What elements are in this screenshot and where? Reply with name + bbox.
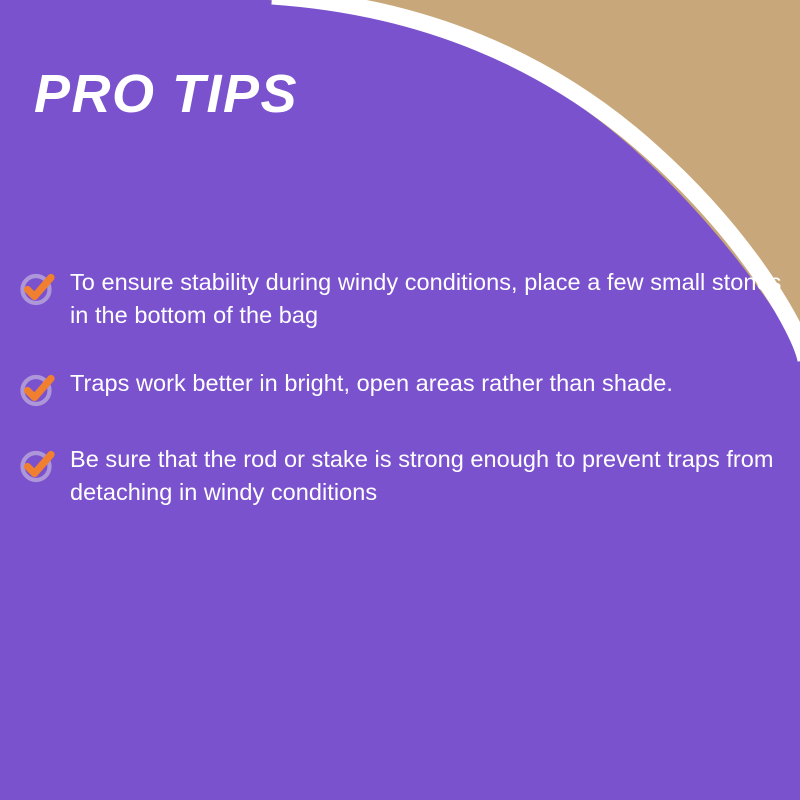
tips-list: To ensure stability during windy conditi… (16, 268, 786, 545)
list-item: Traps work better in bright, open areas … (16, 369, 786, 409)
list-item-label: Be sure that the rod or stake is strong … (60, 443, 786, 510)
page-title: PRO TIPS (34, 66, 298, 123)
list-item-label: To ensure stability during windy conditi… (60, 266, 786, 333)
check-circle-icon (16, 445, 60, 485)
list-item: To ensure stability during windy conditi… (16, 268, 786, 333)
check-circle-icon (16, 369, 60, 409)
list-item-label: Traps work better in bright, open areas … (60, 367, 786, 400)
check-circle-icon (16, 268, 60, 308)
pro-tips-poster: PRO TIPS To ensure stability during wind… (0, 0, 800, 800)
list-item: Be sure that the rod or stake is strong … (16, 445, 786, 510)
